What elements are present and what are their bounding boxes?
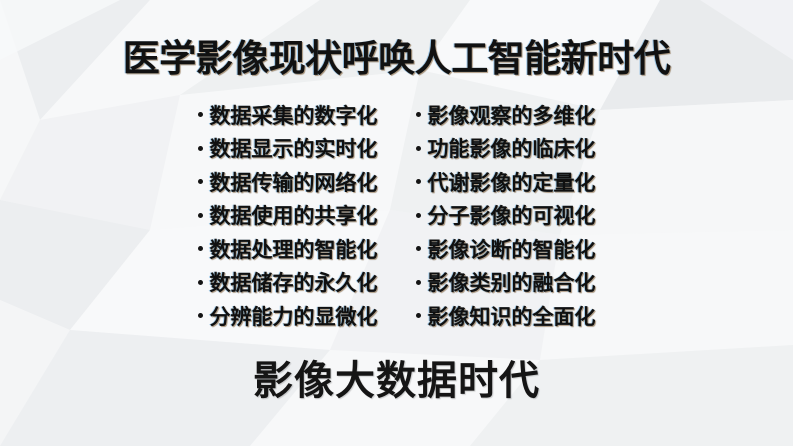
list-item: 影像观察的多维化 — [416, 98, 596, 132]
bullet-dot-icon — [416, 246, 421, 251]
list-item-label: 影像知识的全面化 — [428, 301, 596, 331]
list-item: 分辨能力的显微化 — [198, 299, 378, 333]
list-item-label: 影像诊断的智能化 — [428, 234, 596, 264]
list-item-label: 影像类别的融合化 — [428, 267, 596, 297]
list-item: 影像诊断的智能化 — [416, 232, 596, 266]
list-item-label: 数据传输的网络化 — [210, 167, 378, 197]
bullet-dot-icon — [198, 280, 203, 285]
list-item-label: 数据使用的共享化 — [210, 200, 378, 230]
bullet-dot-icon — [416, 213, 421, 218]
bullet-columns: 数据采集的数字化 数据显示的实时化 数据传输的网络化 数据使用的共享化 数据处理… — [0, 98, 793, 333]
bullet-dot-icon — [198, 213, 203, 218]
list-item-label: 数据显示的实时化 — [210, 133, 378, 163]
page-title: 医学影像现状呼唤人工智能新时代 — [0, 28, 793, 82]
list-item-label: 数据采集的数字化 — [210, 100, 378, 130]
bullet-dot-icon — [198, 112, 203, 117]
list-item-label: 功能影像的临床化 — [428, 133, 596, 163]
list-item: 数据显示的实时化 — [198, 132, 378, 166]
bullet-dot-icon — [416, 313, 421, 318]
list-item: 影像类别的融合化 — [416, 266, 596, 300]
list-item: 代谢影像的定量化 — [416, 165, 596, 199]
bullet-dot-icon — [198, 146, 203, 151]
list-item: 功能影像的临床化 — [416, 132, 596, 166]
list-item-label: 数据储存的永久化 — [210, 267, 378, 297]
presentation-slide: 医学影像现状呼唤人工智能新时代 数据采集的数字化 数据显示的实时化 数据传输的网… — [0, 0, 793, 446]
list-item-label: 代谢影像的定量化 — [428, 167, 596, 197]
bullet-dot-icon — [198, 246, 203, 251]
list-item: 数据传输的网络化 — [198, 165, 378, 199]
bullet-column-data-aspects: 数据采集的数字化 数据显示的实时化 数据传输的网络化 数据使用的共享化 数据处理… — [198, 98, 378, 333]
bullet-dot-icon — [416, 280, 421, 285]
list-item: 数据处理的智能化 — [198, 232, 378, 266]
list-item-label: 分子影像的可视化 — [428, 200, 596, 230]
bullet-dot-icon — [198, 313, 203, 318]
list-item: 分子影像的可视化 — [416, 199, 596, 233]
list-item: 影像知识的全面化 — [416, 299, 596, 333]
bullet-dot-icon — [416, 179, 421, 184]
list-item: 数据使用的共享化 — [198, 199, 378, 233]
bullet-dot-icon — [198, 179, 203, 184]
list-item: 数据储存的永久化 — [198, 266, 378, 300]
list-item-label: 数据处理的智能化 — [210, 234, 378, 264]
bullet-column-imaging-aspects: 影像观察的多维化 功能影像的临床化 代谢影像的定量化 分子影像的可视化 影像诊断… — [416, 98, 596, 333]
bullet-dot-icon — [416, 112, 421, 117]
list-item-label: 分辨能力的显微化 — [210, 301, 378, 331]
list-item: 数据采集的数字化 — [198, 98, 378, 132]
footer-statement: 影像大数据时代 — [0, 348, 793, 406]
bullet-dot-icon — [416, 146, 421, 151]
list-item-label: 影像观察的多维化 — [428, 100, 596, 130]
